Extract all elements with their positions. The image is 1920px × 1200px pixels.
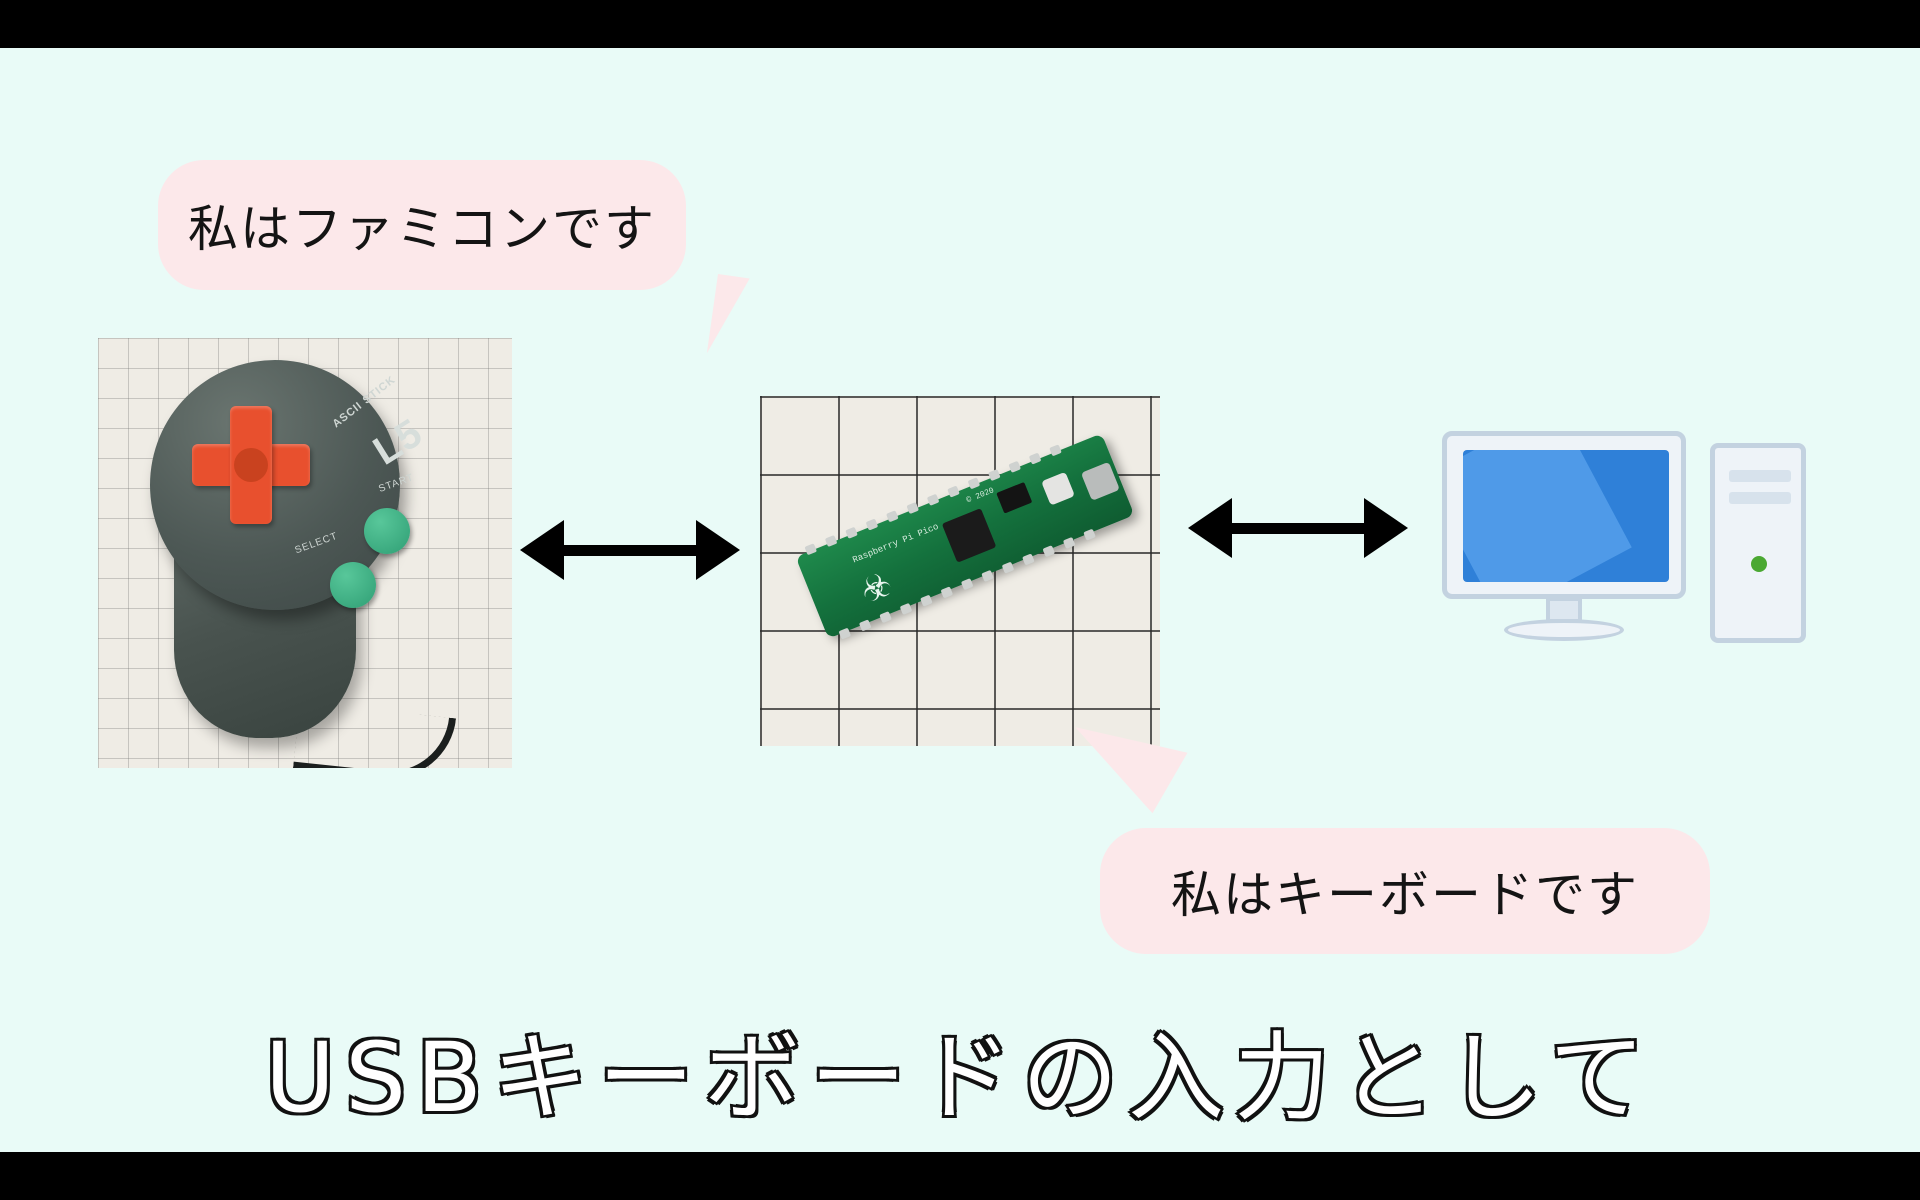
arrow-controller-to-pico [520, 518, 740, 582]
arrow-head-right-icon [696, 520, 740, 580]
speech-bubble-keyboard: 私はキーボードです [1100, 828, 1710, 954]
famicom-controller-photo: ASCII STICK L5 START SELECT [98, 338, 512, 768]
pico-bootsel-button [1041, 472, 1075, 506]
arrow-head-left-icon [520, 520, 564, 580]
monitor-screen [1463, 450, 1669, 582]
pico-rp2040-chip [942, 508, 997, 563]
pc-tower [1710, 443, 1806, 643]
pico-flash-chip [996, 482, 1032, 514]
speech-bubble-tail-famicom [707, 274, 750, 358]
pico-silkscreen-year: © 2020 [965, 486, 995, 505]
tower-power-led-icon [1751, 556, 1767, 572]
monitor-glare [1463, 450, 1632, 582]
speech-bubble-famicom: 私はファミコンです [158, 160, 686, 290]
speech-bubble-keyboard-text: 私はキーボードです [1171, 855, 1639, 927]
arrow-shaft [564, 545, 696, 556]
arrow-pico-to-pc [1188, 496, 1408, 560]
arrow-head-left-icon [1188, 498, 1232, 558]
caption: USBキーボードの入力として [0, 1000, 1920, 1139]
pc-illustration [1442, 431, 1822, 671]
speech-bubble-famicom-text: 私はファミコンです [188, 189, 656, 261]
pico-silkscreen-name: Raspberry Pi Pico [851, 522, 940, 566]
slide-content-area: 私はファミコンです ASCII STICK L5 START SELECT [0, 48, 1920, 1152]
controller-start-button [364, 508, 410, 554]
tower-drive-slot [1729, 492, 1791, 504]
monitor-frame [1442, 431, 1686, 599]
raspberry-pi-pico-photo: ☣ Raspberry Pi Pico © 2020 [760, 396, 1160, 746]
arrow-shaft [1232, 523, 1364, 534]
raspberry-logo-icon: ☣ [855, 562, 904, 611]
pico-usb-port [1081, 462, 1120, 501]
slide-root: 私はファミコンです ASCII STICK L5 START SELECT [0, 0, 1920, 1200]
monitor-base [1504, 619, 1624, 641]
dpad-center [234, 448, 268, 482]
controller-select-button [330, 562, 376, 608]
arrow-head-right-icon [1364, 498, 1408, 558]
caption-text: USBキーボードの入力として [265, 1022, 1655, 1134]
tower-drive-slot [1729, 470, 1791, 482]
